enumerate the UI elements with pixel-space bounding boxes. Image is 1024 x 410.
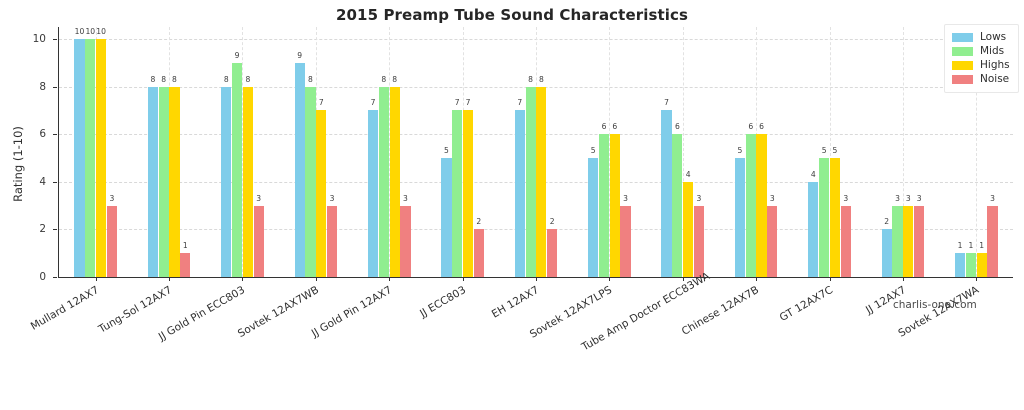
bar-value-label: 9 — [235, 51, 240, 60]
x-axis-tick-mark — [830, 277, 831, 281]
y-axis-tick-label: 4 — [6, 176, 46, 188]
x-axis-tick-mark — [169, 277, 170, 281]
bar-mids — [379, 87, 389, 277]
y-axis-tick-label: 6 — [6, 128, 46, 140]
bar-highs — [169, 87, 179, 277]
legend-swatch-icon — [952, 47, 973, 56]
bar-mids — [305, 87, 315, 277]
bar-value-label: 8 — [150, 75, 155, 84]
bar-value-label: 3 — [990, 194, 995, 203]
bar-value-label: 6 — [759, 122, 764, 131]
bar-noise — [987, 206, 997, 277]
bar-value-label: 2 — [476, 217, 481, 226]
chart-legend: LowsMidsHighsNoise — [944, 24, 1019, 93]
bar-value-label: 5 — [591, 146, 596, 155]
bar-lows — [808, 182, 818, 277]
bar-highs — [536, 87, 546, 277]
bar-value-label: 5 — [833, 146, 838, 155]
bar-noise — [841, 206, 851, 277]
bar-highs — [96, 39, 106, 277]
bar-value-label: 5 — [738, 146, 743, 155]
bar-value-label: 7 — [371, 98, 376, 107]
legend-label: Lows — [980, 30, 1006, 44]
bar-lows — [295, 63, 305, 277]
bar-value-label: 8 — [381, 75, 386, 84]
bar-value-label: 8 — [161, 75, 166, 84]
y-axis-tick-mark — [53, 229, 57, 230]
bar-mids — [892, 206, 902, 277]
bar-value-label: 3 — [917, 194, 922, 203]
chart-title: 2015 Preamp Tube Sound Characteristics — [0, 6, 1024, 24]
legend-label: Mids — [980, 44, 1004, 58]
bar-value-label: 5 — [444, 146, 449, 155]
plot-area: 1010103888189839873788357727882566376435… — [58, 27, 1013, 278]
bar-value-label: 6 — [675, 122, 680, 131]
bar-value-label: 6 — [748, 122, 753, 131]
bar-value-label: 8 — [245, 75, 250, 84]
bar-lows — [441, 158, 451, 277]
bar-value-label: 3 — [330, 194, 335, 203]
bar-value-label: 8 — [528, 75, 533, 84]
x-axis-tick-mark — [683, 277, 684, 281]
bar-value-label: 7 — [664, 98, 669, 107]
bar-value-label: 6 — [612, 122, 617, 131]
bar-value-label: 8 — [539, 75, 544, 84]
bar-lows — [588, 158, 598, 277]
bar-value-label: 9 — [297, 51, 302, 60]
y-axis: Rating (1-10) 0246810 — [0, 27, 52, 277]
bar-mids — [452, 110, 462, 277]
bar-lows — [515, 110, 525, 277]
bar-value-label: 3 — [256, 194, 261, 203]
bar-noise — [694, 206, 704, 277]
chart-figure: 2015 Preamp Tube Sound Characteristics R… — [0, 0, 1024, 410]
bar-lows — [74, 39, 84, 277]
bar-mids — [232, 63, 242, 277]
legend-swatch-icon — [952, 61, 973, 70]
bar-lows — [148, 87, 158, 277]
y-axis-tick-mark — [53, 182, 57, 183]
bar-value-label: 2 — [884, 217, 889, 226]
bar-lows — [955, 253, 965, 277]
bar-noise — [914, 206, 924, 277]
bar-value-label: 10 — [96, 27, 106, 36]
bar-value-label: 1 — [968, 241, 973, 250]
bar-mids — [672, 134, 682, 277]
bar-value-label: 3 — [697, 194, 702, 203]
bar-mids — [819, 158, 829, 277]
bar-noise — [107, 206, 117, 277]
y-axis-tick-mark — [53, 134, 57, 135]
bar-value-label: 3 — [109, 194, 114, 203]
x-axis-tick-mark — [976, 277, 977, 281]
bar-lows — [882, 229, 892, 277]
bar-value-label: 3 — [403, 194, 408, 203]
x-axis-tick-mark — [536, 277, 537, 281]
bar-highs — [683, 182, 693, 277]
bar-noise — [474, 229, 484, 277]
bar-value-label: 5 — [822, 146, 827, 155]
bar-value-label: 1 — [183, 241, 188, 250]
bar-lows — [661, 110, 671, 277]
y-axis-tick-label: 10 — [6, 33, 46, 45]
bar-value-label: 7 — [319, 98, 324, 107]
x-axis-tick-mark — [242, 277, 243, 281]
bar-mids — [966, 253, 976, 277]
legend-item-mids[interactable]: Mids — [952, 44, 1010, 58]
legend-item-noise[interactable]: Noise — [952, 72, 1010, 86]
bar-value-label: 1 — [958, 241, 963, 250]
bar-mids — [526, 87, 536, 277]
bar-mids — [159, 87, 169, 277]
bar-value-label: 7 — [466, 98, 471, 107]
bar-highs — [390, 87, 400, 277]
bar-value-label: 6 — [602, 122, 607, 131]
bar-highs — [977, 253, 987, 277]
legend-label: Highs — [980, 58, 1010, 72]
bar-mids — [85, 39, 95, 277]
x-axis-tick-mark — [389, 277, 390, 281]
bar-value-label: 8 — [172, 75, 177, 84]
bar-value-label: 10 — [75, 27, 85, 36]
bar-value-label: 4 — [811, 170, 816, 179]
bar-highs — [830, 158, 840, 277]
y-axis-tick-mark — [53, 39, 57, 40]
x-axis-tick-mark — [903, 277, 904, 281]
bar-highs — [903, 206, 913, 277]
y-axis-tick-label: 0 — [6, 271, 46, 283]
bar-noise — [254, 206, 264, 277]
bar-highs — [463, 110, 473, 277]
bar-mids — [746, 134, 756, 277]
bar-value-label: 10 — [85, 27, 95, 36]
legend-item-highs[interactable]: Highs — [952, 58, 1010, 72]
legend-item-lows[interactable]: Lows — [952, 30, 1010, 44]
bar-value-label: 2 — [550, 217, 555, 226]
bar-mids — [599, 134, 609, 277]
bar-lows — [221, 87, 231, 277]
bar-noise — [327, 206, 337, 277]
bar-noise — [767, 206, 777, 277]
bar-value-label: 3 — [895, 194, 900, 203]
bar-noise — [400, 206, 410, 277]
y-axis-tick-label: 8 — [6, 81, 46, 93]
legend-swatch-icon — [952, 75, 973, 84]
y-axis-tick-mark — [53, 87, 57, 88]
y-axis-tick-mark — [53, 277, 57, 278]
legend-label: Noise — [980, 72, 1009, 86]
bar-value-label: 1 — [979, 241, 984, 250]
x-axis-tick-mark — [463, 277, 464, 281]
bar-value-label: 7 — [455, 98, 460, 107]
bar-lows — [368, 110, 378, 277]
bar-highs — [756, 134, 766, 277]
bar-highs — [316, 110, 326, 277]
bar-value-label: 3 — [906, 194, 911, 203]
x-axis-tick-mark — [609, 277, 610, 281]
bar-value-label: 8 — [224, 75, 229, 84]
y-axis-tick-label: 2 — [6, 223, 46, 235]
bar-noise — [547, 229, 557, 277]
legend-swatch-icon — [952, 33, 973, 42]
bar-value-label: 3 — [623, 194, 628, 203]
bar-value-label: 8 — [308, 75, 313, 84]
bar-highs — [610, 134, 620, 277]
bar-value-label: 3 — [843, 194, 848, 203]
bar-highs — [243, 87, 253, 277]
x-axis-tick-mark — [316, 277, 317, 281]
bar-value-label: 7 — [517, 98, 522, 107]
bar-value-label: 4 — [686, 170, 691, 179]
x-axis-tick-mark — [756, 277, 757, 281]
bar-value-label: 8 — [392, 75, 397, 84]
bar-noise — [620, 206, 630, 277]
bar-value-label: 3 — [770, 194, 775, 203]
bar-noise — [180, 253, 190, 277]
x-axis-tick-mark — [96, 277, 97, 281]
bar-lows — [735, 158, 745, 277]
